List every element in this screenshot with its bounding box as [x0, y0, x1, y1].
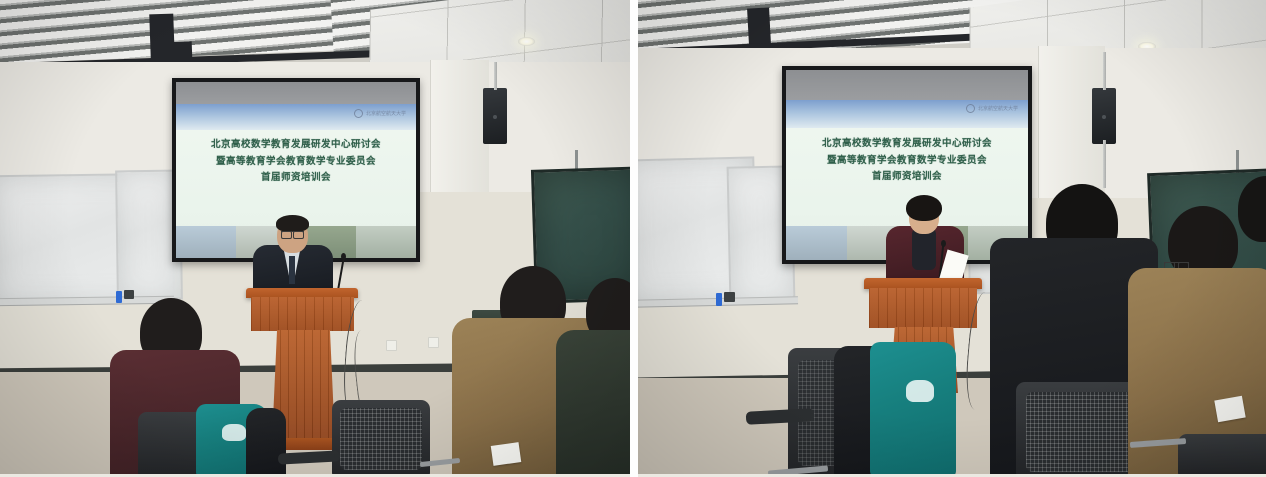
slide-logo-mark-right: [966, 104, 975, 113]
wall-pillar-left: [430, 60, 489, 192]
slide-photo-1-left: [176, 226, 236, 258]
slide-title-line-2-left: 暨高等教育学会教育数学专业委员会: [176, 154, 416, 171]
attendee-olive-coat-left: [556, 330, 630, 477]
wall-outlet-left-2: [428, 337, 439, 348]
left-photo-panel: 北京航空航天大学 北京高校数学教育发展研发中心研讨会 暨高等教育学会教育数学专业…: [0, 0, 630, 477]
panel-divider: [630, 0, 638, 477]
presenter-inner-top-right: [912, 228, 936, 270]
ceiling-light-icon-left: [518, 37, 535, 46]
slide-title-line-2-right: 暨高等教育学会教育数学专业委员会: [786, 153, 1028, 170]
slide-logo-mark-left: [354, 109, 363, 118]
teal-jacket-right: [870, 342, 956, 477]
teal-jacket-logo-left: [222, 424, 246, 441]
presenter-hair-left: [276, 215, 309, 232]
presenter-hair-right: [906, 195, 942, 221]
loudspeaker-icon-right: [1092, 88, 1116, 144]
teal-jacket-logo-right: [906, 380, 934, 402]
podium-face-left: [251, 297, 354, 331]
slide-photo-4-left: [356, 226, 416, 258]
slide-title-line-1-right: 北京高校数学教育发展研发中心研讨会: [786, 136, 1028, 153]
attendee-glasses-right: [1164, 262, 1189, 263]
speaker-mount-pipe-right: [1103, 52, 1106, 90]
slide-logo-text-left: 北京航空航天大学: [366, 110, 406, 117]
podium-face-right: [869, 288, 977, 328]
chair-mesh-left-2: [340, 408, 422, 470]
slide-title-line-1-left: 北京高校数学教育发展研发中心研讨会: [176, 137, 416, 154]
attendee-papers-left: [491, 442, 522, 466]
presenter-glasses-left: [281, 231, 304, 232]
slide-header-band-left: [176, 82, 416, 104]
chair-back-right-3: [1178, 434, 1266, 477]
speaker-mount-pipe-left: [494, 62, 497, 90]
slide-logo-left: 北京航空航天大学: [354, 109, 406, 118]
right-photo-panel: 北京航空航天大学 北京高校数学教育发展研发中心研讨会 暨高等教育学会教育数学专业…: [638, 0, 1266, 477]
microphone-head-right: [941, 240, 946, 247]
slide-photo-1-right: [786, 226, 847, 260]
microphone-head-left: [341, 253, 346, 260]
eraser-icon-left: [124, 290, 134, 299]
marker-icon-right: [716, 293, 722, 306]
photo-collage: 北京航空航天大学 北京高校数学教育发展研发中心研讨会 暨高等教育学会教育数学专业…: [0, 0, 1266, 477]
loudspeaker-icon-left: [483, 88, 507, 144]
wall-outlet-left: [386, 340, 397, 351]
chair-mesh-right-2: [1026, 392, 1138, 472]
presenter-tie-left: [289, 256, 295, 284]
slide-title-left: 北京高校数学教育发展研发中心研讨会 暨高等教育学会教育数学专业委员会 首届师资培…: [176, 137, 416, 187]
ceiling-beam-mount-right: [747, 7, 771, 44]
slide-title-line-3-left: 首届师资培训会: [176, 170, 416, 187]
slide-logo-text-right: 北京航空航天大学: [978, 105, 1018, 112]
marker-icon-left: [116, 291, 122, 303]
speaker-mount-pipe-right-2: [1103, 140, 1106, 188]
slide-title-line-3-right: 首届师资培训会: [786, 169, 1028, 186]
eraser-icon-right: [724, 292, 735, 302]
slide-title-right: 北京高校数学教育发展研发中心研讨会 暨高等教育学会教育数学专业委员会 首届师资培…: [786, 136, 1028, 186]
slide-logo-right: 北京航空航天大学: [966, 104, 1018, 113]
slide-header-band-right: [786, 70, 1028, 100]
dark-bag-left: [246, 408, 286, 477]
